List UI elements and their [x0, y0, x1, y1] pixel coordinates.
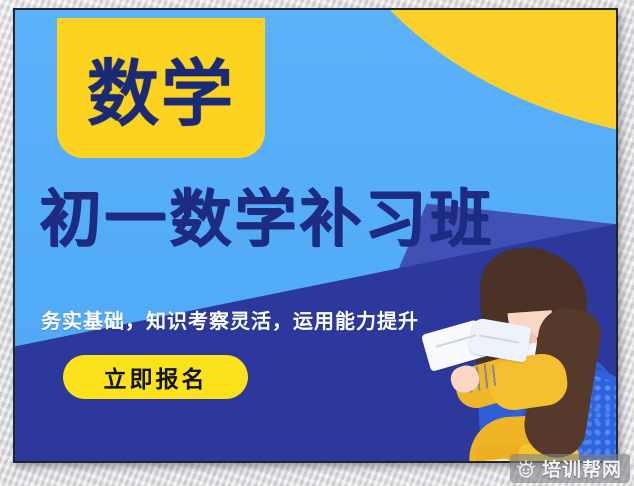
screenshot-stage: 数学 — [0, 0, 634, 486]
poster-subtitle: 务实基础，知识考察灵活，运用能力提升 — [41, 305, 419, 334]
site-watermark: 培训帮网 — [510, 454, 630, 483]
page-title: 初一数学补习班 — [39, 188, 599, 250]
enroll-now-button-label: 立即报名 — [104, 360, 208, 394]
subject-badge: 数学 — [57, 18, 265, 158]
poster-inner: 数学 — [15, 10, 616, 461]
enroll-now-button[interactable]: 立即报名 — [63, 355, 248, 399]
smiling-sun-face-icon — [516, 460, 536, 478]
course-poster: 数学 — [13, 8, 618, 463]
subject-badge-label: 数学 — [87, 58, 235, 130]
girl-reading-book-illustration — [427, 248, 616, 461]
site-watermark-text: 培训帮网 — [542, 455, 622, 482]
